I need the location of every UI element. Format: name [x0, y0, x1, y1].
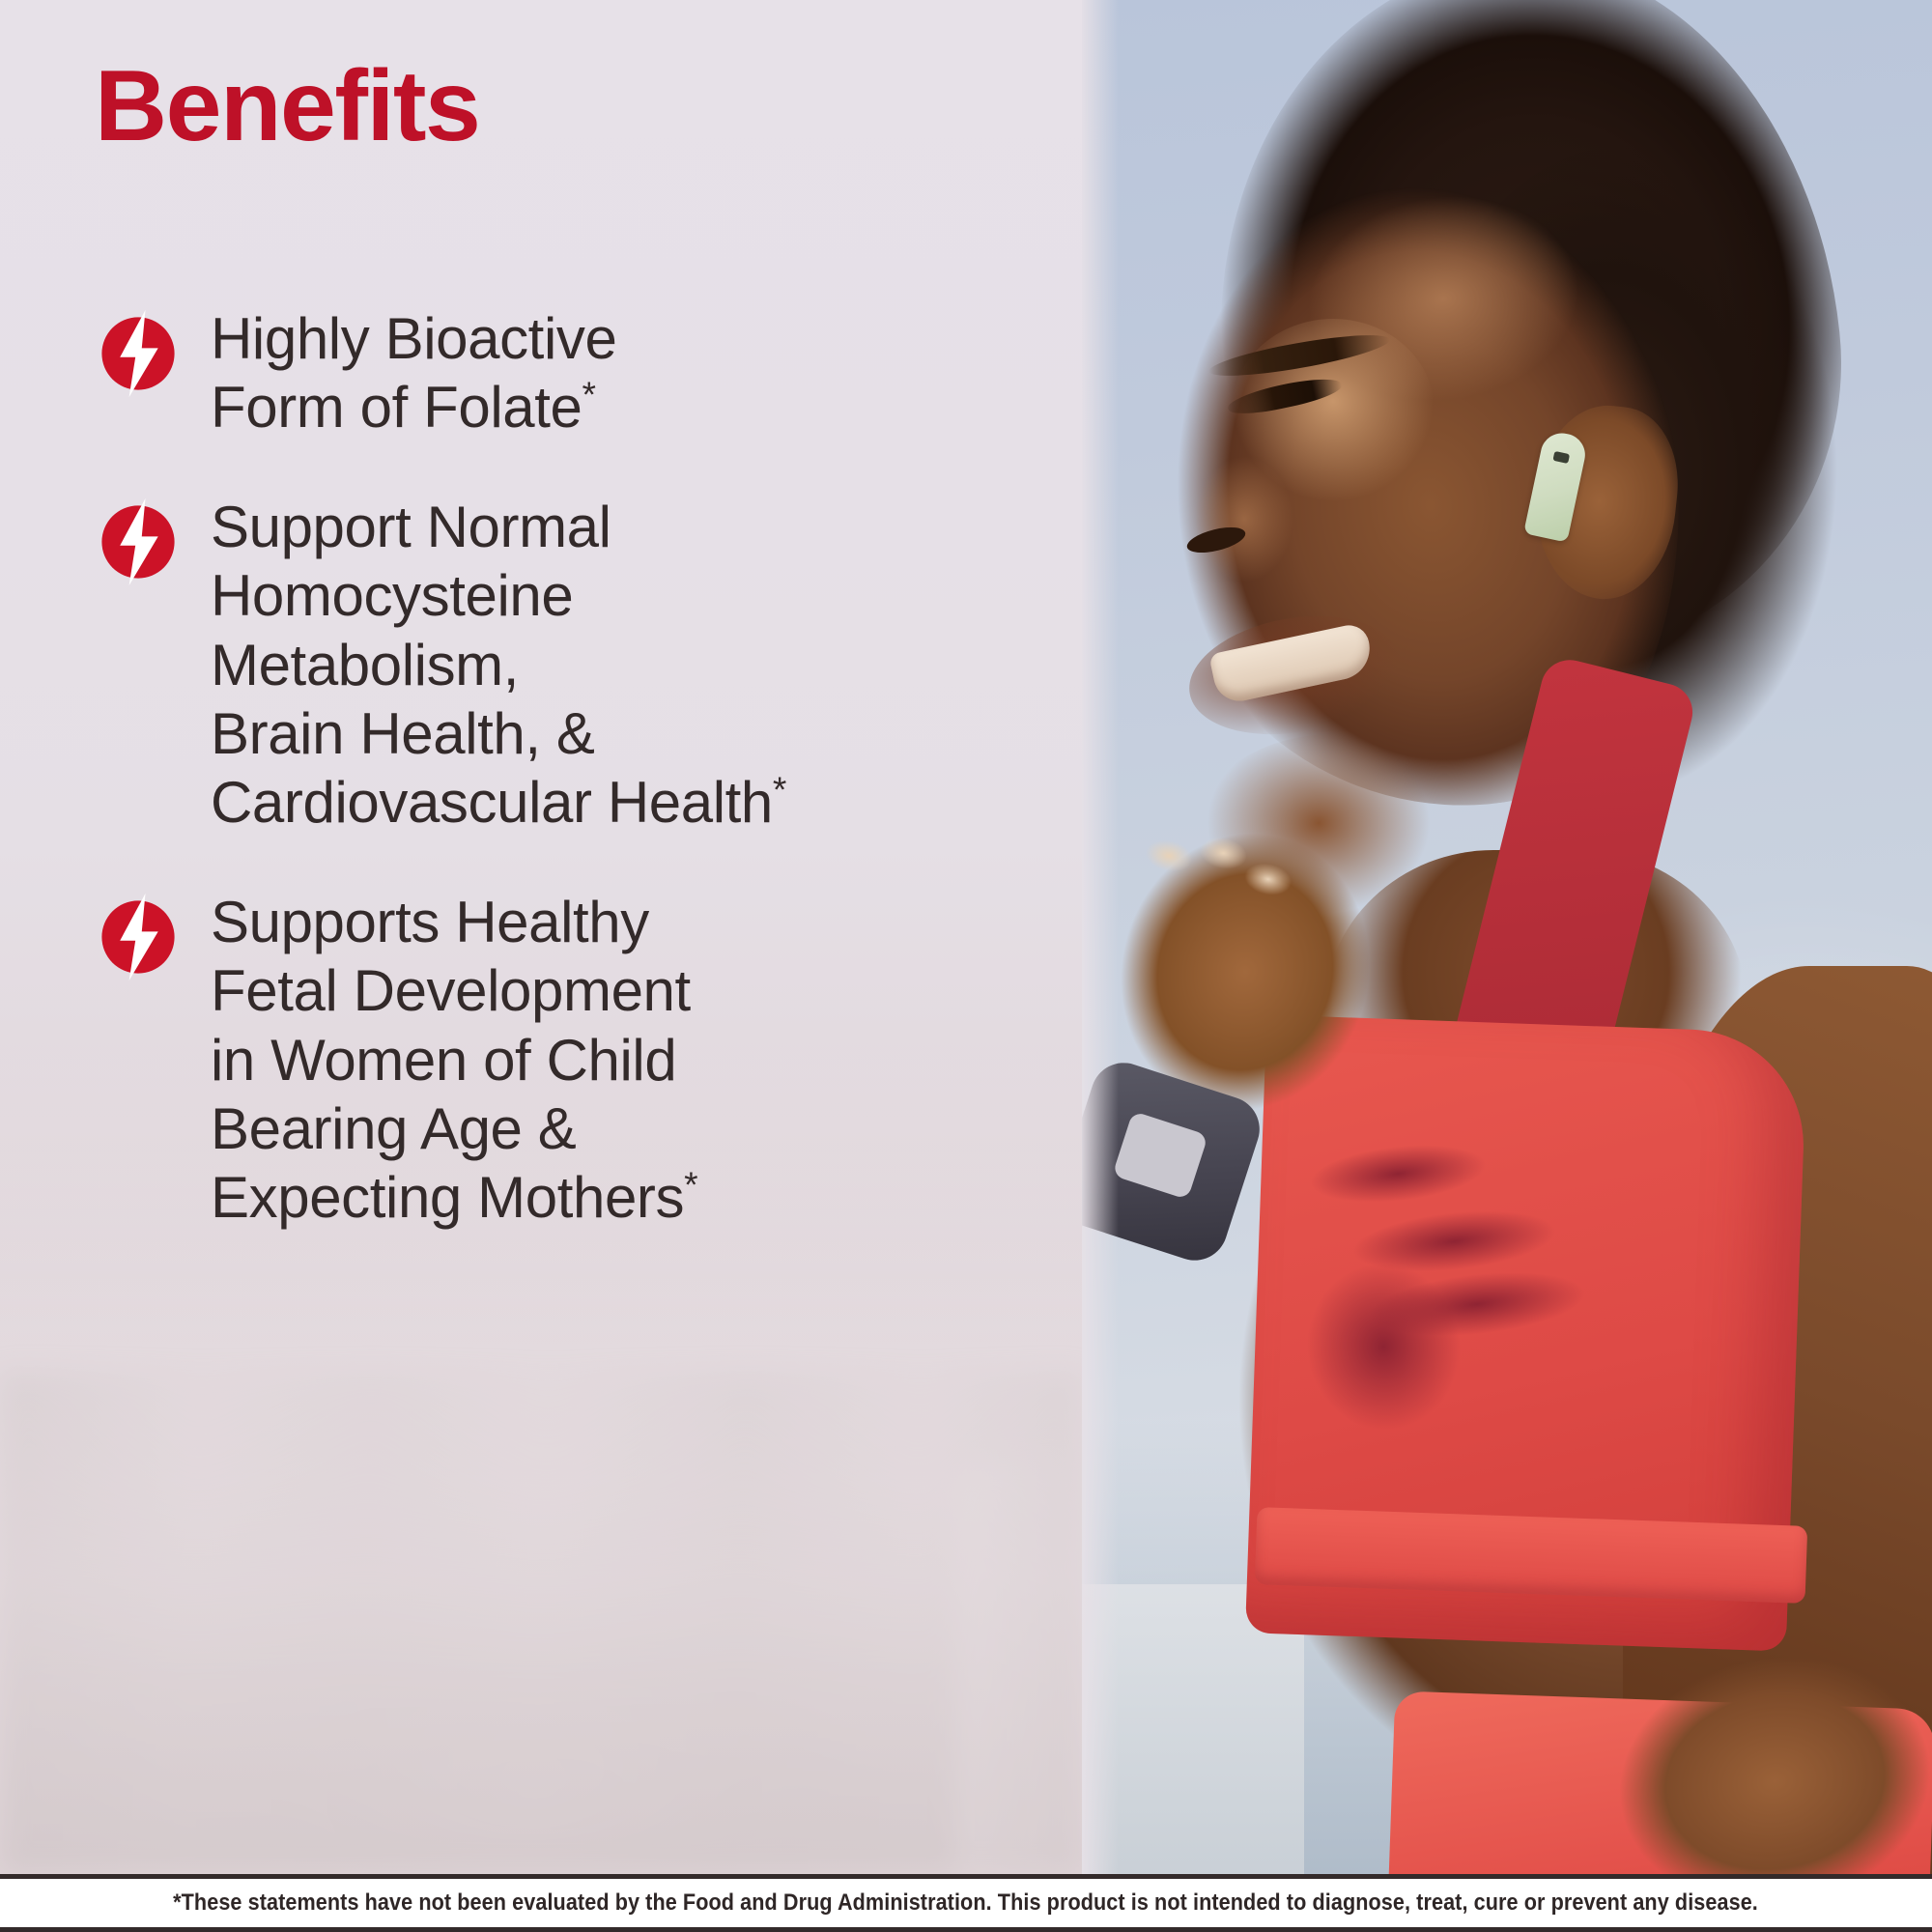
page-title: Benefits	[95, 56, 479, 156]
footnote-marker: *	[582, 374, 596, 414]
list-item: Highly Bioactive Form of Folate*	[93, 304, 1039, 442]
list-item: Support Normal Homocysteine Metabolism, …	[93, 493, 1039, 838]
benefits-list: Highly Bioactive Form of Folate* Support…	[93, 304, 1039, 1233]
hand-shadow	[1269, 1071, 1716, 1518]
benefit-text: Support Normal Homocysteine Metabolism, …	[211, 493, 786, 838]
disclaimer-bar: *These statements have not been evaluate…	[0, 1874, 1932, 1932]
product-benefits-card: Benefits Highly Bioactive Form of Folate…	[0, 0, 1932, 1932]
footnote-marker: *	[773, 769, 786, 810]
benefits-panel: Benefits Highly Bioactive Form of Folate…	[0, 0, 1082, 1874]
lightning-bolt-icon	[93, 308, 184, 399]
benefit-text: Supports Healthy Fetal Development in Wo…	[211, 888, 697, 1233]
list-item: Supports Healthy Fetal Development in Wo…	[93, 888, 1039, 1233]
lightning-bolt-icon	[93, 892, 184, 982]
benefit-text: Highly Bioactive Form of Folate*	[211, 304, 616, 442]
lifestyle-photo	[1082, 0, 1932, 1874]
footnote-marker: *	[684, 1164, 697, 1205]
lightning-bolt-icon	[93, 497, 184, 587]
disclaimer-text: *These statements have not been evaluate…	[174, 1889, 1759, 1917]
